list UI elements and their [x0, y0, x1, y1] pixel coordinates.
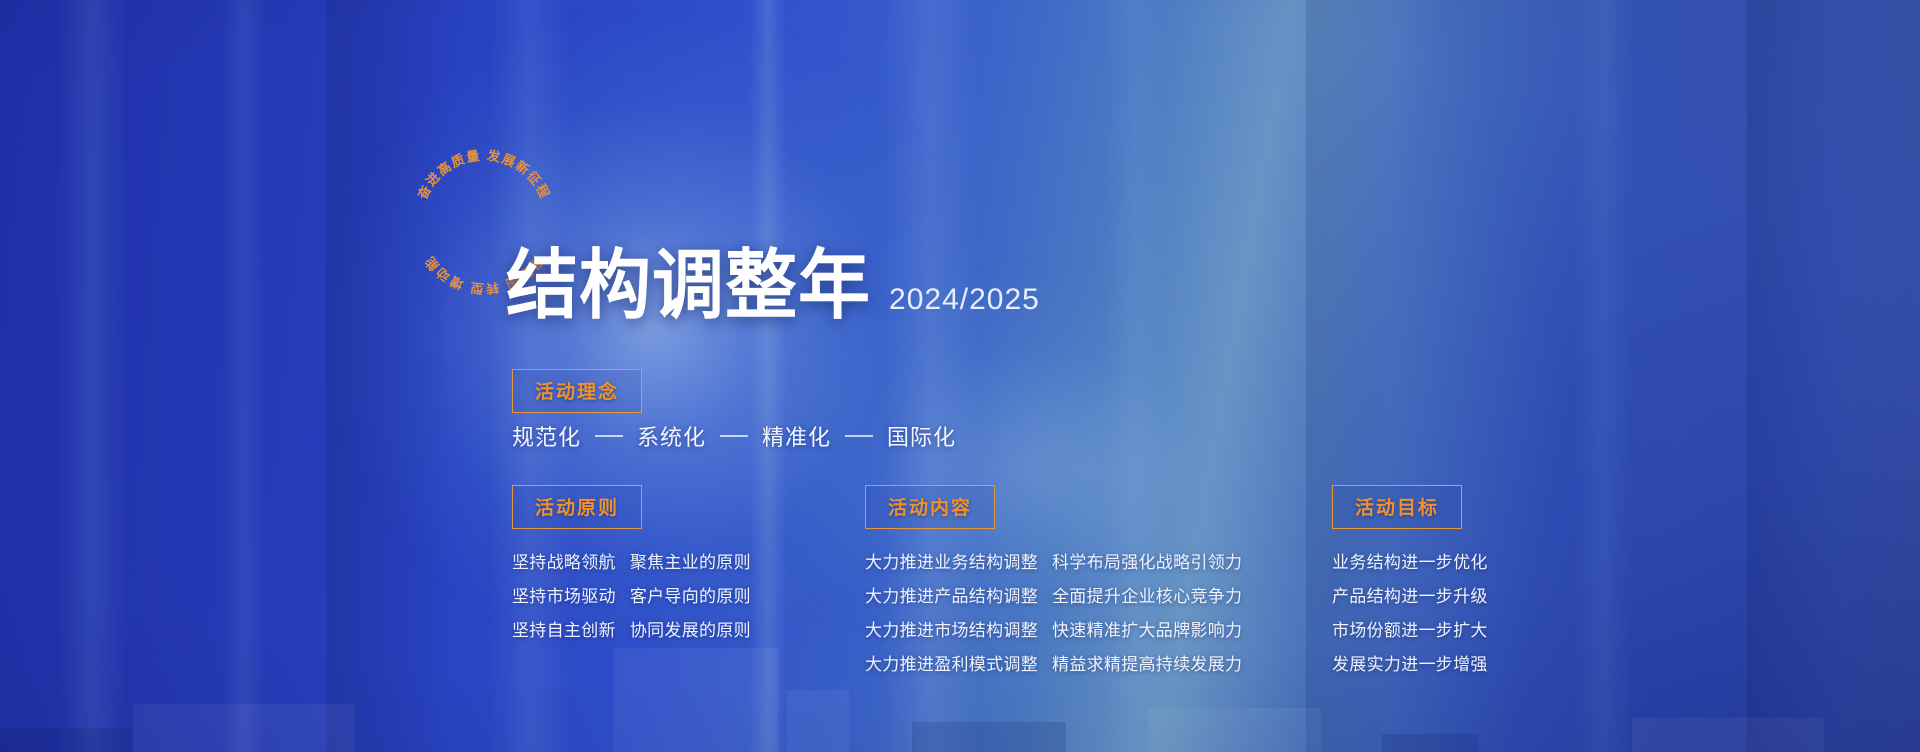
list-item-primary: 产品结构进一步升级	[1332, 582, 1488, 607]
tagline-separator	[720, 435, 748, 437]
list-item-primary: 大力推进盈利模式调整	[865, 650, 1038, 675]
list-item-primary: 大力推进业务结构调整	[865, 548, 1038, 573]
tagline-separator	[595, 435, 623, 437]
year-label: 2024/2025	[889, 283, 1040, 324]
list-item: 大力推进业务结构调整科学布局强化战略引领力	[865, 548, 1242, 573]
title-block: 结构调整年 2024/2025	[506, 252, 1040, 324]
list-item: 坚持战略领航聚焦主业的原则	[512, 548, 751, 573]
column-rows: 业务结构进一步优化产品结构进一步升级市场份额进一步扩大发展实力进一步增强	[1332, 548, 1488, 675]
list-item-primary: 坚持自主创新	[512, 616, 616, 641]
list-item-secondary: 快速精准扩大品牌影响力	[1052, 616, 1242, 641]
list-item: 发展实力进一步增强	[1332, 650, 1488, 675]
list-item-secondary: 全面提升企业核心竞争力	[1052, 582, 1242, 607]
list-item-primary: 业务结构进一步优化	[1332, 548, 1488, 573]
banner-content: 奋进高质量 发展新征程 保蓝图 转型 增动能 结构调整年 2024/2025 活…	[0, 0, 1920, 752]
tagline-item: 精准化	[762, 420, 831, 452]
column-badge-label: 活动内容	[888, 493, 972, 520]
column-principles: 活动原则 坚持战略领航聚焦主业的原则坚持市场驱动客户导向的原则坚持自主创新协同发…	[512, 485, 751, 641]
column-rows: 坚持战略领航聚焦主业的原则坚持市场驱动客户导向的原则坚持自主创新协同发展的原则	[512, 548, 751, 641]
column-badge-label: 活动目标	[1355, 493, 1439, 520]
column-badge-label: 活动原则	[535, 493, 619, 520]
tagline-item: 规范化	[512, 420, 581, 452]
tagline-separator	[845, 435, 873, 437]
list-item: 大力推进产品结构调整全面提升企业核心竞争力	[865, 582, 1242, 607]
list-item-secondary: 精益求精提高持续发展力	[1052, 650, 1242, 675]
concept-tagline: 规范化系统化精准化国际化	[512, 420, 956, 452]
concept-badge-label: 活动理念	[535, 377, 619, 404]
list-item-primary: 大力推进产品结构调整	[865, 582, 1038, 607]
list-item-primary: 坚持战略领航	[512, 548, 616, 573]
list-item: 坚持自主创新协同发展的原则	[512, 616, 751, 641]
list-item: 产品结构进一步升级	[1332, 582, 1488, 607]
list-item-primary: 市场份额进一步扩大	[1332, 616, 1488, 641]
column-contents: 活动内容 大力推进业务结构调整科学布局强化战略引领力大力推进产品结构调整全面提升…	[865, 485, 1242, 675]
list-item-primary: 发展实力进一步增强	[1332, 650, 1488, 675]
list-item: 大力推进市场结构调整快速精准扩大品牌影响力	[865, 616, 1242, 641]
column-rows: 大力推进业务结构调整科学布局强化战略引领力大力推进产品结构调整全面提升企业核心竞…	[865, 548, 1242, 675]
list-item-secondary: 客户导向的原则	[630, 582, 751, 607]
list-item-secondary: 科学布局强化战略引领力	[1052, 548, 1242, 573]
column-badge: 活动内容	[865, 485, 995, 529]
concept-badge: 活动理念	[512, 369, 642, 413]
list-item: 市场份额进一步扩大	[1332, 616, 1488, 641]
page-title: 结构调整年	[506, 248, 871, 324]
list-item-primary: 大力推进市场结构调整	[865, 616, 1038, 641]
list-item-primary: 坚持市场驱动	[512, 582, 616, 607]
list-item: 坚持市场驱动客户导向的原则	[512, 582, 751, 607]
list-item-secondary: 协同发展的原则	[630, 616, 751, 641]
tagline-item: 国际化	[887, 420, 956, 452]
column-goals: 活动目标 业务结构进一步优化产品结构进一步升级市场份额进一步扩大发展实力进一步增…	[1332, 485, 1488, 675]
list-item-secondary: 聚焦主业的原则	[630, 548, 751, 573]
seal-top-arc-text: 奋进高质量 发展新征程	[414, 148, 553, 203]
list-item: 大力推进盈利模式调整精益求精提高持续发展力	[865, 650, 1242, 675]
column-badge: 活动目标	[1332, 485, 1462, 529]
column-badge: 活动原则	[512, 485, 642, 529]
tagline-item: 系统化	[637, 420, 706, 452]
list-item: 业务结构进一步优化	[1332, 548, 1488, 573]
